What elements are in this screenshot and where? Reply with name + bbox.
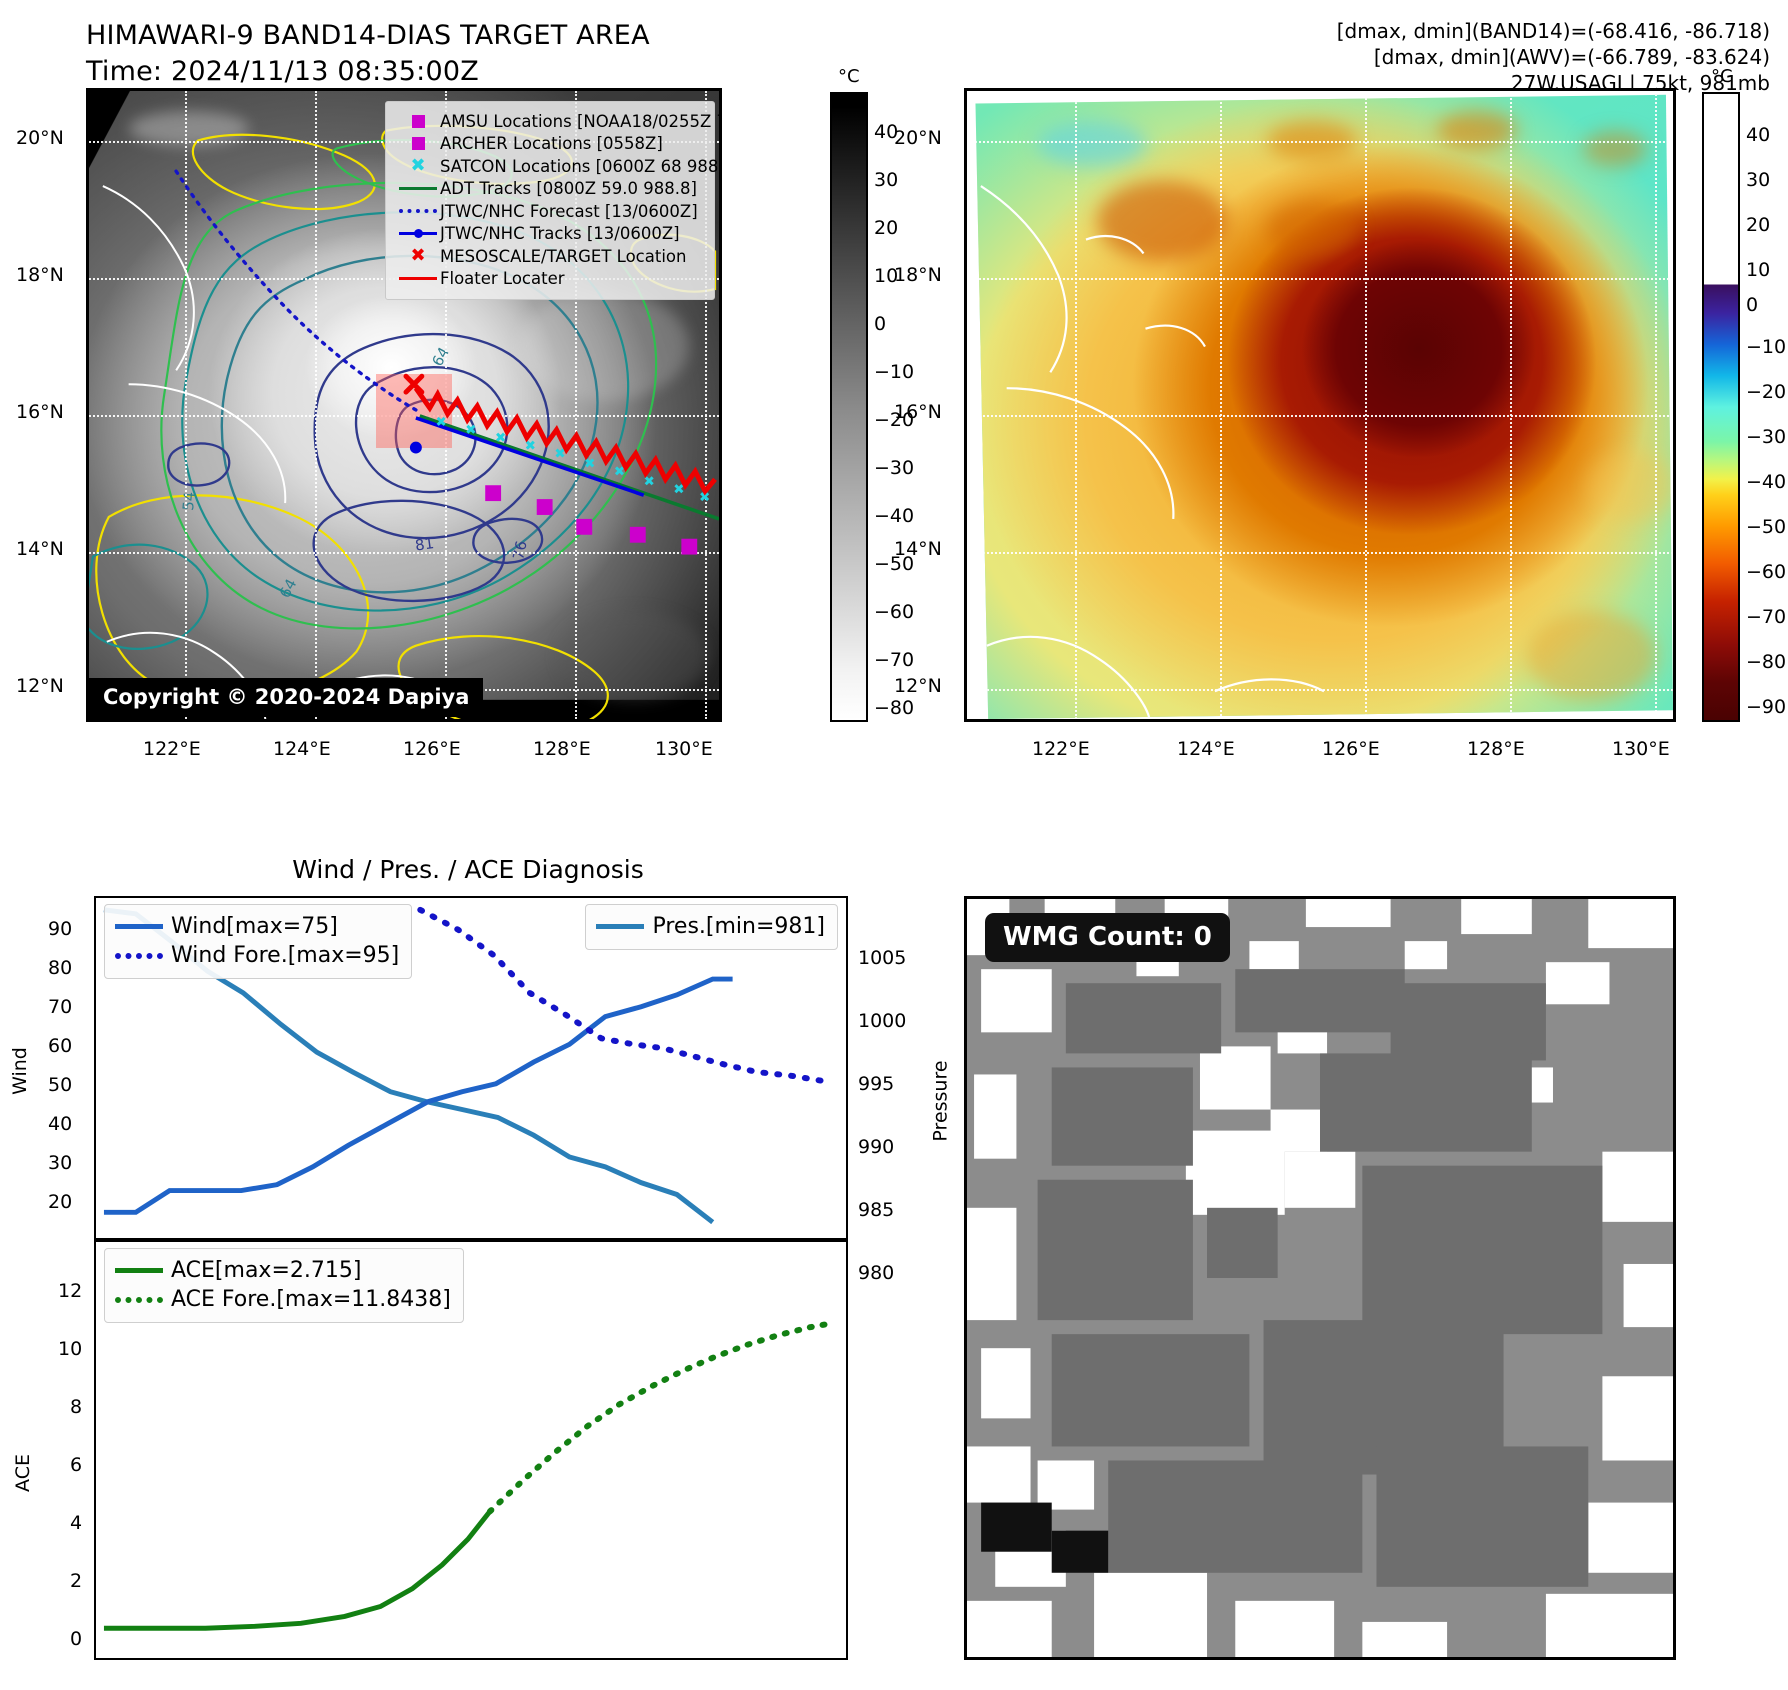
colorbar-tick: −70 [1746, 606, 1786, 628]
gridline-lon-126E [1365, 91, 1367, 719]
ir-satellite-map[interactable]: 64 64 54 54 81 76 [86, 88, 722, 722]
legend-label: ACE Fore.[max=11.8438] [171, 1287, 451, 1312]
gridline-lon-128E [1510, 91, 1512, 719]
colorbar-tick: −40 [874, 505, 914, 527]
ace-series-line [104, 1511, 490, 1628]
colorbar-tick: −10 [874, 361, 914, 383]
legend-item-ace-forecast[interactable]: ACE Fore.[max=11.8438] [115, 1285, 451, 1314]
ace-y-tick: 12 [58, 1280, 82, 1302]
amsu-location-marker [681, 539, 697, 555]
awv-satellite-map[interactable] [964, 88, 1676, 722]
legend-label: Wind Fore.[max=95] [171, 943, 399, 968]
ace-y-tick: 8 [70, 1396, 82, 1418]
awv-lon-tick: 128°E [1467, 738, 1525, 760]
legend-item-mesoscale[interactable]: ✖ MESOSCALE/TARGET Location [396, 245, 704, 268]
dotted-line-swatch-icon [115, 1297, 171, 1303]
awv-colorbar [1702, 92, 1740, 722]
gridline-lon-130E [1655, 91, 1657, 719]
ace-y-tick: 10 [58, 1338, 82, 1360]
awv-lon-tick: 124°E [1177, 738, 1235, 760]
awv-lat-tick: 20°N [894, 127, 942, 149]
colorbar-tick: 20 [1746, 214, 1770, 236]
page-header-left: HIMAWARI-9 BAND14-DIAS TARGET AREA Time:… [86, 18, 650, 90]
legend-item-floater[interactable]: Floater Locater [396, 268, 704, 291]
jtwc-current-node [410, 442, 422, 454]
gridline-lat-16N [967, 415, 1673, 417]
colorbar-tick: −50 [1746, 516, 1786, 538]
awv-lat-tick: 18°N [894, 264, 942, 286]
awv-image [967, 91, 1673, 719]
page-title: HIMAWARI-9 BAND14-DIAS TARGET AREA [86, 18, 650, 54]
colorbar-tick: −70 [874, 649, 914, 671]
ir-colorbar-unit: °C [838, 66, 860, 87]
colorbar-tick: 0 [1746, 294, 1758, 316]
copyright-notice: Copyright © 2020-2024 Dapiya [89, 678, 483, 717]
wind-y-tick: 50 [48, 1074, 72, 1096]
jtwc-forecast-track [174, 168, 416, 410]
pressure-y-tick: 980 [858, 1262, 894, 1284]
legend-label: ARCHER Locations [0558Z] [440, 134, 663, 153]
colorbar-tick: 30 [1746, 169, 1770, 191]
ir-lat-tick: 18°N [16, 264, 64, 286]
pressure-y-tick: 990 [858, 1136, 894, 1158]
legend-label: Floater Locater [440, 269, 565, 288]
ir-lat-tick: 20°N [16, 127, 64, 149]
ace-y-axis-label: ACE [12, 1454, 34, 1492]
x-marker-icon: ✖ [396, 157, 440, 175]
colorbar-tick: −80 [874, 697, 914, 719]
pressure-y-tick: 1000 [858, 1010, 906, 1032]
pressure-y-axis-label: Pressure [930, 1060, 952, 1141]
legend-item-satcon[interactable]: ✖ SATCON Locations [0600Z 68 988] [396, 155, 704, 178]
page-timestamp: Time: 2024/11/13 08:35:00Z [86, 54, 650, 90]
awv-lat-tick: 16°N [894, 401, 942, 423]
wind-y-tick: 70 [48, 996, 72, 1018]
ir-lon-tick: 128°E [533, 738, 591, 760]
ir-lat-tick: 14°N [16, 538, 64, 560]
wind-y-tick: 40 [48, 1113, 72, 1135]
colorbar-tick: −20 [1746, 381, 1786, 403]
pressure-y-tick: 995 [858, 1073, 894, 1095]
wind-y-axis-label: Wind [9, 1047, 31, 1095]
diagnosis-title: Wind / Pres. / ACE Diagnosis [86, 855, 850, 884]
colorbar-tick: −90 [1746, 696, 1786, 718]
wind-y-tick: 20 [48, 1191, 72, 1213]
legend-item-jtwc-forecast[interactable]: JTWC/NHC Forecast [13/0600Z] [396, 200, 704, 223]
page-header-right: [dmax, dmin](BAND14)=(-68.416, -86.718) … [1337, 18, 1770, 96]
square-marker-icon [396, 115, 440, 128]
wmg-cloud-mask-panel[interactable]: WMG Count: 0 [964, 896, 1676, 1660]
line-dot-swatch-icon [396, 232, 440, 235]
awv-coastlines [967, 91, 1673, 719]
gridline-lat-18N [967, 278, 1673, 280]
legend-label: MESOSCALE/TARGET Location [440, 247, 686, 266]
dmax-dmin-awv: [dmax, dmin](AWV)=(-66.789, -83.624) [1337, 44, 1770, 70]
line-swatch-icon [396, 277, 440, 280]
legend-label: JTWC/NHC Forecast [13/0600Z] [440, 202, 698, 221]
colorbar-tick: −30 [1746, 426, 1786, 448]
archer-location-marker [537, 499, 553, 515]
colorbar-tick: −40 [1746, 471, 1786, 493]
ace-chart[interactable]: ACE[max=2.715] ACE Fore.[max=11.8438] [94, 1240, 848, 1660]
colorbar-tick: 0 [874, 313, 886, 335]
dotted-line-swatch-icon [115, 953, 171, 959]
ace-y-tick: 4 [70, 1512, 82, 1534]
legend-item-jtwc-tracks[interactable]: JTWC/NHC Tracks [13/0600Z] [396, 223, 704, 246]
map-legend: AMSU Locations [NOAA18/0255Z 72 984] ARC… [385, 101, 715, 300]
line-swatch-icon [596, 924, 652, 929]
ir-lon-tick: 126°E [403, 738, 461, 760]
wind-y-tick: 60 [48, 1035, 72, 1057]
colorbar-tick: −30 [874, 457, 914, 479]
ace-y-tick: 2 [70, 1570, 82, 1592]
colorbar-tick: −80 [1746, 651, 1786, 673]
legend-item-ace[interactable]: ACE[max=2.715] [115, 1256, 451, 1285]
gridline-lon-122E [1075, 91, 1077, 719]
wmg-count-badge: WMG Count: 0 [985, 913, 1230, 962]
colorbar-tick: −60 [874, 601, 914, 623]
wind-y-tick: 90 [48, 918, 72, 940]
ace-forecast-series [490, 1323, 832, 1511]
ir-colorbar [830, 92, 868, 722]
gridline-lat-14N [967, 552, 1673, 554]
amsu-location-marker [576, 519, 592, 535]
awv-lon-tick: 122°E [1032, 738, 1090, 760]
wind-series [104, 979, 733, 1212]
legend-label: Pres.[min=981] [652, 914, 825, 939]
ace-y-tick: 0 [70, 1628, 82, 1650]
legend-item-adt[interactable]: ADT Tracks [0800Z 59.0 988.8] [396, 178, 704, 201]
wmg-mask-grid [967, 899, 1673, 1657]
awv-lon-tick: 126°E [1322, 738, 1380, 760]
gridline-lon-124E [1220, 91, 1222, 719]
legend-item-archer[interactable]: ARCHER Locations [0558Z] [396, 133, 704, 156]
pressure-legend: Pres.[min=981] [585, 904, 838, 950]
ace-legend: ACE[max=2.715] ACE Fore.[max=11.8438] [104, 1248, 464, 1323]
x-marker-icon: ✖ [396, 247, 440, 265]
awv-colorbar-unit: °C [1711, 66, 1733, 87]
pressure-y-tick: 985 [858, 1199, 894, 1221]
colorbar-tick: 30 [874, 169, 898, 191]
ir-lat-tick: 12°N [16, 675, 64, 697]
legend-item-wind-forecast[interactable]: Wind Fore.[max=95] [115, 941, 399, 970]
colorbar-tick: 20 [874, 217, 898, 239]
wind-y-tick: 80 [48, 957, 72, 979]
colorbar-tick: 10 [1746, 259, 1770, 281]
awv-lat-tick: 14°N [894, 538, 942, 560]
line-swatch-icon [396, 187, 440, 190]
archer-location-marker [485, 485, 501, 501]
colorbar-tick: −60 [1746, 561, 1786, 583]
colorbar-tick: −10 [1746, 336, 1786, 358]
gridline-lat-20N [967, 141, 1673, 143]
dmax-dmin-band14: [dmax, dmin](BAND14)=(-68.416, -86.718) [1337, 18, 1770, 44]
ir-image: 64 64 54 54 81 76 [89, 91, 719, 719]
ir-lon-tick: 122°E [143, 738, 201, 760]
amsu-location-marker [630, 527, 646, 543]
ace-y-tick: 6 [70, 1454, 82, 1476]
legend-item-wind[interactable]: Wind[max=75] [115, 912, 399, 941]
dotted-line-swatch-icon [396, 209, 440, 213]
ir-lon-tick: 130°E [655, 738, 713, 760]
legend-label: JTWC/NHC Tracks [13/0600Z] [440, 224, 680, 243]
legend-label: ACE[max=2.715] [171, 1258, 361, 1283]
colorbar-tick: 40 [1746, 124, 1770, 146]
wind-legend: Wind[max=75] Wind Fore.[max=95] [104, 904, 412, 979]
ir-lat-tick: 16°N [16, 401, 64, 423]
awv-lat-tick: 12°N [894, 675, 942, 697]
legend-item-amsu[interactable]: AMSU Locations [NOAA18/0255Z 72 984] [396, 110, 704, 133]
pressure-y-tick: 1005 [858, 947, 906, 969]
legend-item-pressure[interactable]: Pres.[min=981] [596, 912, 825, 941]
legend-label: Wind[max=75] [171, 914, 338, 939]
floater-locater-track [416, 388, 715, 491]
legend-label: AMSU Locations [NOAA18/0255Z 72 984] [440, 112, 722, 131]
awv-lon-tick: 130°E [1612, 738, 1670, 760]
square-marker-icon [396, 137, 440, 150]
line-swatch-icon [115, 924, 171, 929]
wind-pressure-chart[interactable]: Wind[max=75] Wind Fore.[max=95] Pres.[mi… [94, 896, 848, 1240]
legend-label: SATCON Locations [0600Z 68 988] [440, 157, 722, 176]
gridline-lat-12N [967, 689, 1673, 691]
legend-label: ADT Tracks [0800Z 59.0 988.8] [440, 179, 697, 198]
line-swatch-icon [115, 1268, 171, 1273]
wind-y-tick: 30 [48, 1152, 72, 1174]
ir-lon-tick: 124°E [273, 738, 331, 760]
